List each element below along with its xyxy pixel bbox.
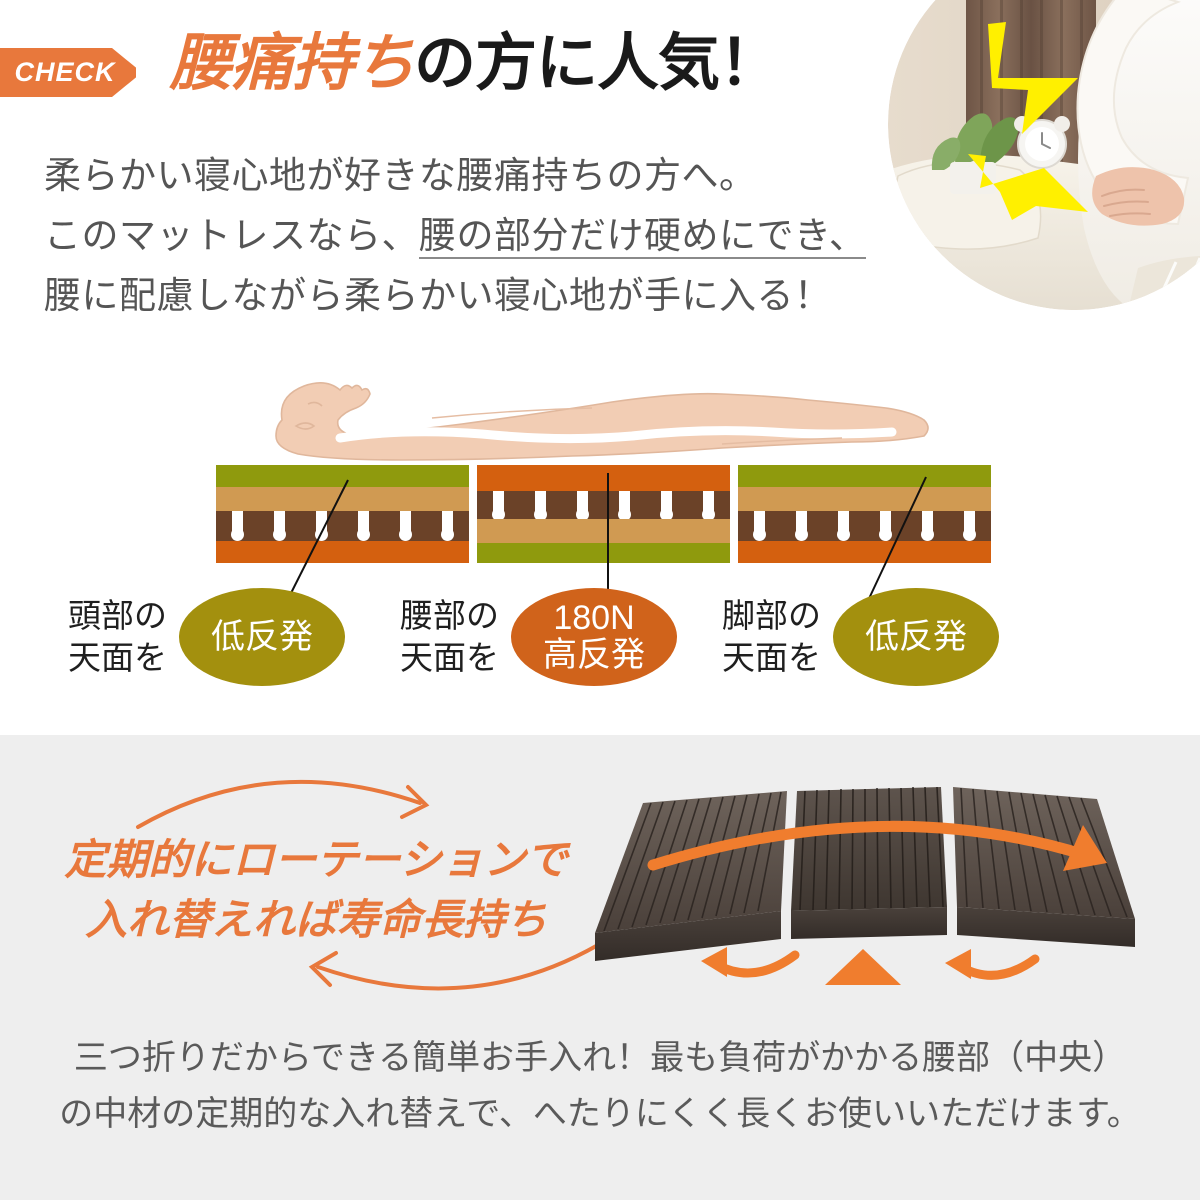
slot-group	[216, 511, 469, 537]
trifold-mattress-3d	[585, 763, 1145, 1013]
footnote-line-2: の中材の定期的な入れ替えで、へたりにくく長くお使いいただけます。	[0, 1086, 1200, 1142]
lead-line-2: このマットレスなら、腰の部分だけ硬めにでき、	[44, 206, 866, 266]
mattress-cross-sections	[0, 465, 1200, 565]
label-text-waist: 腰部の 天面を	[400, 595, 499, 679]
layer-tan	[216, 487, 469, 511]
label-text-legs: 脚部の 天面を	[722, 595, 821, 679]
slot-group	[477, 491, 730, 517]
back-pain-photo	[888, 0, 1200, 310]
slot	[274, 511, 285, 537]
pill-legs-label: 低反発	[865, 619, 967, 656]
rotation-arrow-top	[138, 782, 420, 827]
mattress-block-legs	[738, 465, 991, 563]
slot	[316, 511, 327, 537]
label-legs-line2: 天面を	[722, 637, 821, 679]
slot	[358, 511, 369, 537]
mattress-panel-right	[953, 787, 1135, 947]
slot	[619, 491, 630, 517]
mattress-block-waist	[477, 465, 730, 563]
slot	[400, 511, 411, 537]
lead-paragraph: 柔らかい寝心地が好きな腰痛持ちの方へ。 このマットレスなら、腰の部分だけ硬めにで…	[44, 146, 866, 326]
pill-legs: 低反発	[833, 588, 999, 686]
footnote-paragraph: 三つ折りだからできる簡単お手入れ！最も負荷がかかる腰部（中央） の中材の定期的な…	[0, 1030, 1200, 1143]
label-group-waist: 腰部の 天面を 180N 高反発	[400, 588, 677, 686]
pill-head-label: 低反発	[211, 619, 313, 656]
label-text-head: 頭部の 天面を	[68, 595, 167, 679]
layer-orange	[216, 541, 469, 563]
label-head-line1: 頭部の	[68, 595, 167, 637]
layer-orange	[738, 541, 991, 563]
layer-olive	[216, 465, 469, 487]
slot	[796, 511, 807, 537]
slot	[577, 491, 588, 517]
trifold-mattress-svg	[585, 763, 1145, 1013]
bottom-section: 定期的にローテーションで 入れ替えれば寿命長持ち	[0, 735, 1200, 1200]
mattress-labels: 頭部の 天面を 低反発 腰部の 天面を 180N 高反発	[0, 588, 1200, 698]
rotation-arrow-bottom	[318, 945, 598, 988]
label-group-head: 頭部の 天面を 低反発	[68, 588, 345, 686]
lead-line-1: 柔らかい寝心地が好きな腰痛持ちの方へ。	[44, 146, 866, 206]
slot	[535, 491, 546, 517]
lead-line-2-prefix: このマットレスなら、	[44, 215, 419, 256]
pill-waist-label-1: 180N	[553, 600, 634, 637]
back-pain-photo-svg	[888, 0, 1200, 310]
slot	[880, 511, 891, 537]
infographic-page: CHECK 腰痛持ちの方に人気！ 柔らかい寝心地が好きな腰痛持ちの方へ。 このマ…	[0, 0, 1200, 1200]
layer-tan	[738, 487, 991, 511]
slot	[442, 511, 453, 537]
slot	[493, 491, 504, 517]
swap-arrow-left-small	[717, 955, 795, 973]
layer-orange	[477, 465, 730, 491]
label-waist-line2: 天面を	[400, 637, 499, 679]
slot-group	[738, 511, 991, 537]
pill-waist-label-2: 高反発	[543, 637, 645, 674]
layer-olive	[477, 543, 730, 563]
slot	[232, 511, 243, 537]
headline-rest: の方に人気！	[414, 29, 780, 98]
layer-olive	[738, 465, 991, 487]
lead-line-2-underlined: 腰の部分だけ硬めにでき、	[419, 215, 866, 259]
label-waist-line1: 腰部の	[400, 595, 499, 637]
label-group-legs: 脚部の 天面を 低反発	[722, 588, 999, 686]
pill-waist: 180N 高反発	[511, 588, 677, 686]
check-badge-label: CHECK	[14, 57, 115, 88]
label-head-line2: 天面を	[68, 637, 167, 679]
footnote-line-1: 三つ折りだからできる簡単お手入れ！最も負荷がかかる腰部（中央）	[0, 1030, 1200, 1086]
slot	[754, 511, 765, 537]
slot	[703, 491, 714, 517]
mattress-panel-center	[791, 787, 947, 939]
lead-line-3: 腰に配慮しながら柔らかい寝心地が手に入る！	[44, 266, 866, 326]
top-section: CHECK 腰痛持ちの方に人気！ 柔らかい寝心地が好きな腰痛持ちの方へ。 このマ…	[0, 0, 1200, 735]
slot	[838, 511, 849, 537]
layer-tan	[477, 519, 730, 543]
rotation-caption: 定期的にローテーションで 入れ替えれば寿命長持ち	[46, 830, 586, 949]
slot	[964, 511, 975, 537]
slot	[922, 511, 933, 537]
pill-head: 低反発	[179, 588, 345, 686]
label-legs-line1: 脚部の	[722, 595, 821, 637]
headline-highlight: 腰痛持ち	[170, 29, 414, 98]
swap-arrow-right-small	[961, 959, 1035, 975]
mattress-block-head	[216, 465, 469, 563]
mattress-panel-left	[595, 791, 787, 961]
center-up-triangle-icon	[825, 949, 901, 985]
rotation-caption-line1: 定期的にローテーションで	[46, 830, 586, 890]
check-badge: CHECK	[0, 48, 136, 97]
slot	[661, 491, 672, 517]
rotation-caption-line2: 入れ替えれば寿命長持ち	[46, 890, 586, 950]
page-title: 腰痛持ちの方に人気！	[170, 28, 780, 99]
